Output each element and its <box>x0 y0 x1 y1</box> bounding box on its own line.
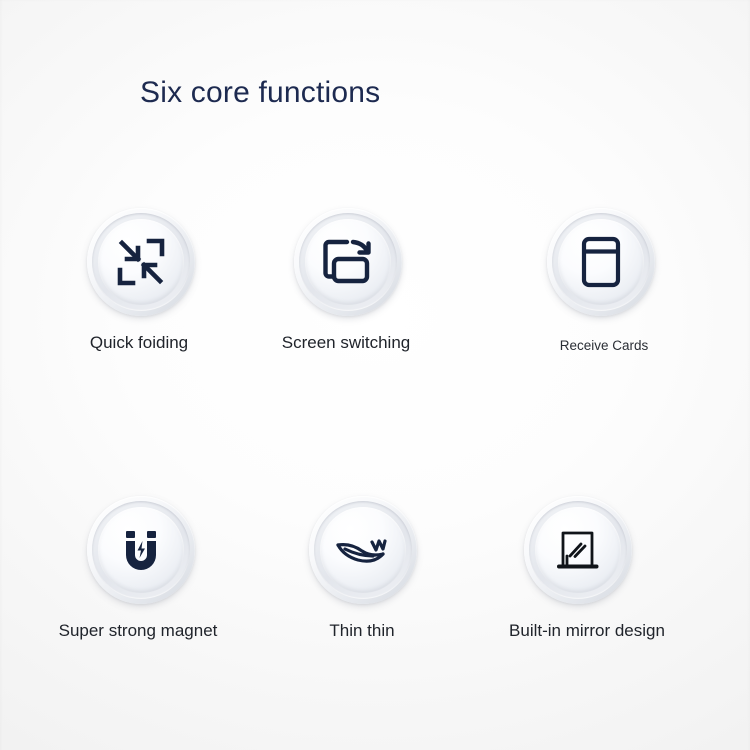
collapse-arrows-icon <box>87 208 195 316</box>
mirror-icon <box>524 496 632 604</box>
feature-badge-built-in-mirror-design[interactable] <box>524 496 632 604</box>
magnet-icon <box>87 496 195 604</box>
feature-tile-built-in-mirror-design[interactable]: Built-in mirror design <box>463 496 693 641</box>
feature-label-built-in-mirror-design: Built-in mirror design <box>472 621 702 641</box>
feature-badge-super-strong-magnet[interactable] <box>87 496 195 604</box>
feature-tile-quick-folding[interactable]: Quick foiding <box>26 208 256 353</box>
feature-label-super-strong-magnet: Super strong magnet <box>23 621 253 641</box>
feature-badge-quick-folding[interactable] <box>87 208 195 316</box>
card-slot-icon <box>547 208 655 316</box>
feature-label-thin-thin: Thin thin <box>247 621 477 641</box>
feature-label-receive-cards: Receive Cards <box>489 338 719 353</box>
feature-tile-screen-switching[interactable]: Screen switching <box>233 208 463 353</box>
feature-label-screen-switching: Screen switching <box>231 333 461 353</box>
feature-grid-page: Six core functions Quick foiding <box>0 0 750 750</box>
feature-badge-receive-cards[interactable] <box>547 208 655 316</box>
feature-tile-thin-thin[interactable]: Thin thin <box>248 496 478 641</box>
feature-badge-thin-thin[interactable] <box>309 496 417 604</box>
feature-tile-super-strong-magnet[interactable]: Super strong magnet <box>26 496 256 641</box>
feature-badge-screen-switching[interactable] <box>294 208 402 316</box>
screen-rotate-icon <box>294 208 402 316</box>
feather-icon <box>309 496 417 604</box>
feature-tile-receive-cards[interactable]: Receive Cards <box>486 208 716 353</box>
page-title: Six core functions <box>140 76 380 110</box>
feature-label-quick-folding: Quick foiding <box>24 333 254 353</box>
